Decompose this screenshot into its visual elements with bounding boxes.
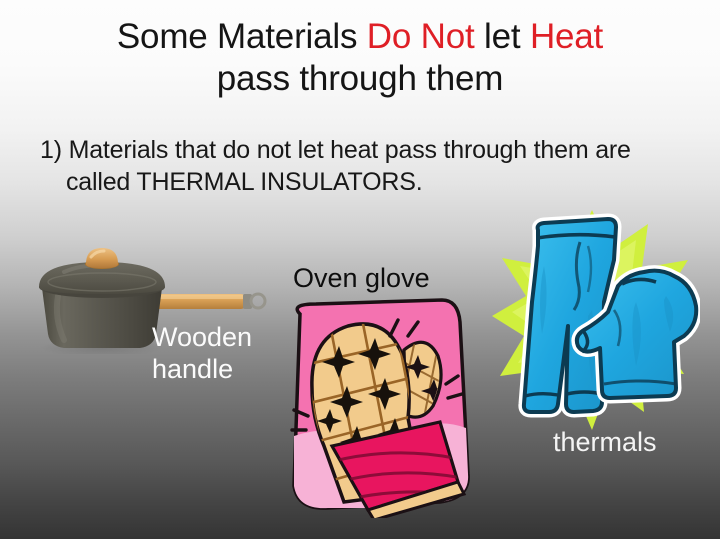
- handle-highlight: [152, 295, 246, 299]
- label-wooden-handle: Wooden handle: [152, 322, 252, 386]
- label-oven-glove: Oven glove: [293, 263, 430, 295]
- title-line-2: pass through them: [217, 59, 504, 98]
- page-title: Some Materials Do Not let Heat pass thro…: [0, 16, 720, 99]
- title-segment-highlight-heat: Heat: [530, 17, 603, 56]
- body-paragraph: 1) Materials that do not let heat pass t…: [40, 135, 640, 199]
- title-line-1: Some Materials Do Not let Heat: [117, 17, 603, 56]
- title-segment-plain-1: Some Materials: [117, 17, 367, 56]
- handle-hanging-ring: [251, 294, 265, 308]
- label-wooden-handle-line-2: handle: [152, 354, 233, 384]
- oven-glove-image: [272, 296, 480, 518]
- label-wooden-handle-line-1: Wooden: [152, 322, 252, 352]
- label-thermals: thermals: [553, 427, 657, 459]
- thermals-image: [488, 206, 700, 438]
- body-line-1: 1) Materials that do not let heat pass: [40, 136, 437, 164]
- oven-glove-icon: [272, 296, 480, 518]
- title-segment-plain-2: let: [475, 17, 530, 56]
- body-paragraph-text: 1) Materials that do not let heat pass t…: [40, 135, 640, 199]
- thermals-icon: [488, 206, 700, 438]
- body-line-3: INSULATORS.: [260, 168, 422, 196]
- slide-canvas: Some Materials Do Not let Heat pass thro…: [0, 0, 720, 539]
- title-segment-highlight-do-not: Do Not: [367, 17, 475, 56]
